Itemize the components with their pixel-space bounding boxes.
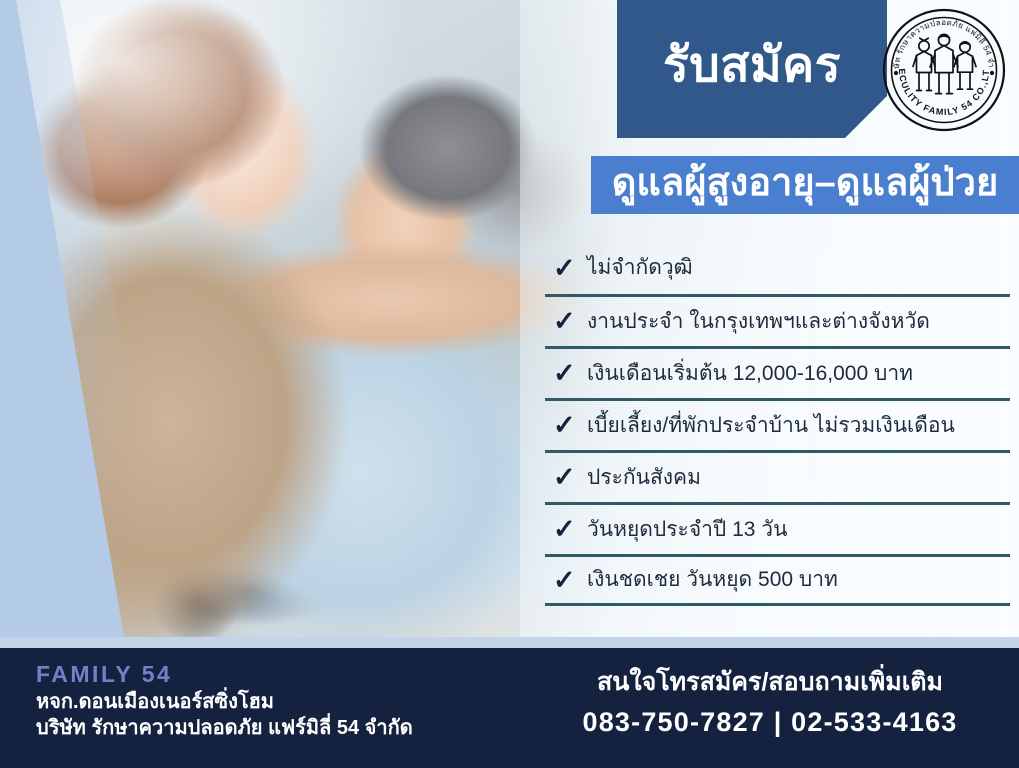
check-icon: ✓	[553, 412, 587, 439]
footer-phone-numbers[interactable]: 083-750-7827 | 02-533-4163	[555, 704, 985, 740]
list-item-label: งานประจำ ในกรุงเทพฯและต่างจังหวัด	[587, 309, 930, 334]
list-item-label: วันหยุดประจำปี 13 วัน	[587, 517, 787, 542]
list-item: ✓ เงินชดเชย วันหยุด 500 บาท	[545, 554, 1010, 606]
check-icon: ✓	[553, 567, 587, 594]
list-item-label: เงินชดเชย วันหยุด 500 บาท	[587, 567, 838, 592]
list-item: ✓ เงินเดือนเริ่มต้น 12,000-16,000 บาท	[545, 346, 1010, 398]
list-item-label: ไม่จำกัดวุฒิ	[587, 255, 693, 280]
subtitle-text: ดูแลผู้สูงอายุ–ดูแลผู้ป่วย	[612, 164, 998, 206]
list-item: ✓ ประกันสังคม	[545, 450, 1010, 502]
company-seal-logo: บริษัท รักษาความปลอดภัย แฟมิลี่ 54 จำกัด…	[879, 5, 1009, 135]
recruitment-poster: รับสมัคร บริษัท รักษาความปลอดภัย แฟมิลี่…	[0, 0, 1019, 768]
check-icon: ✓	[553, 464, 587, 491]
footer-company-block: FAMILY 54 หจก.ดอนเมืองเนอร์สซิ่งโฮม บริษ…	[36, 660, 413, 741]
footer-contact-block: สนใจโทรสมัคร/สอบถามเพิ่มเติม 083-750-782…	[555, 666, 985, 740]
benefit-list: ✓ ไม่จำกัดวุฒิ ✓ งานประจำ ในกรุงเทพฯและต…	[545, 242, 1010, 606]
check-icon: ✓	[553, 255, 587, 282]
list-item: ✓ วันหยุดประจำปี 13 วัน	[545, 502, 1010, 554]
svg-text:บริษัท รักษาความปลอดภัย แฟมิลี: บริษัท รักษาความปลอดภัย แฟมิลี่ 54 จำกัด	[879, 5, 996, 69]
footer-org-line-2: บริษัท รักษาความปลอดภัย แฟร์มิลี่ 54 จำก…	[36, 715, 413, 741]
footer-top-strip	[0, 637, 1019, 648]
list-item-label: ประกันสังคม	[587, 465, 701, 490]
check-icon: ✓	[553, 516, 587, 543]
list-item: ✓ งานประจำ ในกรุงเทพฯและต่างจังหวัด	[545, 294, 1010, 346]
check-icon: ✓	[553, 360, 587, 387]
subtitle-band: ดูแลผู้สูงอายุ–ดูแลผู้ป่วย	[591, 156, 1019, 214]
list-item-label: เงินเดือนเริ่มต้น 12,000-16,000 บาท	[587, 361, 913, 386]
footer-org-line-1: หจก.ดอนเมืองเนอร์สซิ่งโฮม	[36, 689, 413, 715]
footer-bar: FAMILY 54 หจก.ดอนเมืองเนอร์สซิ่งโฮม บริษ…	[0, 648, 1019, 768]
banner-title: รับสมัคร	[663, 42, 841, 96]
list-item: ✓ เบี้ยเลี้ยง/ที่พักประจำบ้าน ไม่รวมเงิน…	[545, 398, 1010, 450]
list-item-label: เบี้ยเลี้ยง/ที่พักประจำบ้าน ไม่รวมเงินเด…	[587, 413, 955, 438]
footer-brand: FAMILY 54	[36, 660, 413, 689]
footer-cta-text: สนใจโทรสมัคร/สอบถามเพิ่มเติม	[555, 666, 985, 700]
list-item: ✓ ไม่จำกัดวุฒิ	[545, 242, 1010, 294]
header-banner: รับสมัคร	[617, 0, 887, 138]
check-icon: ✓	[553, 308, 587, 335]
